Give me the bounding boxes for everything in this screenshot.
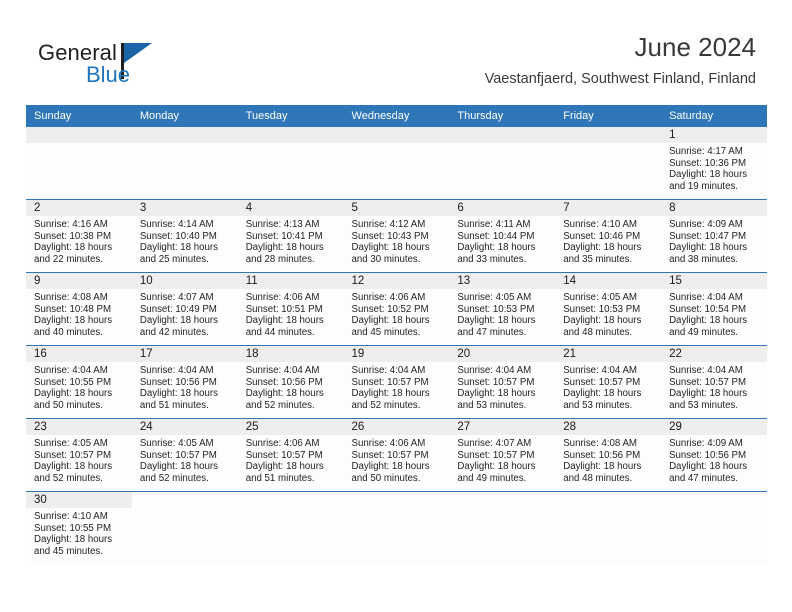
- day-detail-sunset: Sunset: 10:48 PM: [34, 304, 126, 316]
- day-detail-sunrise: Sunrise: 4:12 AM: [352, 219, 444, 231]
- day-number: 4: [238, 200, 344, 216]
- day-details: Sunrise: 4:05 AMSunset: 10:57 PMDaylight…: [26, 435, 132, 484]
- calendar-week-row: 1Sunrise: 4:17 AMSunset: 10:36 PMDayligh…: [26, 127, 767, 200]
- day-detail-daylight-line1: Daylight: 18 hours: [669, 461, 761, 473]
- day-detail-sunset: Sunset: 10:56 PM: [563, 450, 655, 462]
- day-details: Sunrise: 4:04 AMSunset: 10:57 PMDaylight…: [449, 362, 555, 411]
- day-detail-sunset: Sunset: 10:53 PM: [563, 304, 655, 316]
- day-detail-sunset: Sunset: 10:53 PM: [457, 304, 549, 316]
- calendar-day-cell[interactable]: 7Sunrise: 4:10 AMSunset: 10:46 PMDayligh…: [555, 200, 661, 273]
- weekday-header-friday: Friday: [555, 105, 661, 127]
- calendar-page: General Blue June 2024 Vaestanfjaerd, So…: [0, 0, 792, 612]
- day-detail-sunset: Sunset: 10:57 PM: [457, 377, 549, 389]
- title-block: June 2024 Vaestanfjaerd, Southwest Finla…: [485, 31, 756, 88]
- day-detail-sunrise: Sunrise: 4:04 AM: [457, 365, 549, 377]
- day-details: Sunrise: 4:05 AMSunset: 10:53 PMDaylight…: [555, 289, 661, 338]
- day-detail-daylight-line1: Daylight: 18 hours: [563, 388, 655, 400]
- day-detail-sunrise: Sunrise: 4:05 AM: [140, 438, 232, 450]
- day-detail-daylight-line2: and 25 minutes.: [140, 254, 232, 266]
- day-detail-daylight-line2: and 42 minutes.: [140, 327, 232, 339]
- calendar-cell-empty: [344, 492, 450, 565]
- day-detail-sunset: Sunset: 10:43 PM: [352, 231, 444, 243]
- day-number: 5: [344, 200, 450, 216]
- calendar-day-cell[interactable]: 27Sunrise: 4:07 AMSunset: 10:57 PMDaylig…: [449, 419, 555, 492]
- day-detail-sunrise: Sunrise: 4:14 AM: [140, 219, 232, 231]
- day-detail-daylight-line1: Daylight: 18 hours: [669, 169, 761, 181]
- day-details: Sunrise: 4:12 AMSunset: 10:43 PMDaylight…: [344, 216, 450, 265]
- day-number: 28: [555, 419, 661, 435]
- day-number: 30: [26, 492, 132, 508]
- day-details: Sunrise: 4:11 AMSunset: 10:44 PMDaylight…: [449, 216, 555, 265]
- calendar-header-row: SundayMondayTuesdayWednesdayThursdayFrid…: [26, 105, 767, 127]
- calendar-cell-empty: [555, 492, 661, 565]
- day-detail-daylight-line1: Daylight: 18 hours: [246, 315, 338, 327]
- day-detail-sunrise: Sunrise: 4:04 AM: [352, 365, 444, 377]
- day-details: Sunrise: 4:10 AMSunset: 10:46 PMDaylight…: [555, 216, 661, 265]
- day-number: 21: [555, 346, 661, 362]
- day-number: 16: [26, 346, 132, 362]
- calendar-day-cell[interactable]: 30Sunrise: 4:10 AMSunset: 10:55 PMDaylig…: [26, 492, 132, 565]
- day-detail-sunrise: Sunrise: 4:10 AM: [563, 219, 655, 231]
- weekday-header-row: SundayMondayTuesdayWednesdayThursdayFrid…: [26, 105, 767, 127]
- day-detail-sunrise: Sunrise: 4:06 AM: [246, 292, 338, 304]
- day-detail-daylight-line2: and 30 minutes.: [352, 254, 444, 266]
- day-details: Sunrise: 4:09 AMSunset: 10:56 PMDaylight…: [661, 435, 767, 484]
- day-detail-daylight-line1: Daylight: 18 hours: [140, 242, 232, 254]
- day-number: 3: [132, 200, 238, 216]
- day-number: 15: [661, 273, 767, 289]
- calendar-day-cell[interactable]: 26Sunrise: 4:06 AMSunset: 10:57 PMDaylig…: [344, 419, 450, 492]
- day-details: Sunrise: 4:04 AMSunset: 10:57 PMDaylight…: [555, 362, 661, 411]
- day-number: 19: [344, 346, 450, 362]
- calendar-day-cell[interactable]: 14Sunrise: 4:05 AMSunset: 10:53 PMDaylig…: [555, 273, 661, 346]
- day-detail-daylight-line1: Daylight: 18 hours: [457, 315, 549, 327]
- day-detail-sunset: Sunset: 10:46 PM: [563, 231, 655, 243]
- day-number: 12: [344, 273, 450, 289]
- calendar-day-cell[interactable]: 24Sunrise: 4:05 AMSunset: 10:57 PMDaylig…: [132, 419, 238, 492]
- day-number: 25: [238, 419, 344, 435]
- day-number: 11: [238, 273, 344, 289]
- day-detail-daylight-line1: Daylight: 18 hours: [34, 461, 126, 473]
- day-detail-daylight-line1: Daylight: 18 hours: [563, 242, 655, 254]
- general-blue-logo[interactable]: General Blue: [38, 40, 218, 92]
- day-number: 10: [132, 273, 238, 289]
- day-number: 29: [661, 419, 767, 435]
- day-detail-sunrise: Sunrise: 4:04 AM: [563, 365, 655, 377]
- calendar-cell-empty: [132, 492, 238, 565]
- blue-triangle-flag-icon: [124, 43, 152, 63]
- day-detail-daylight-line1: Daylight: 18 hours: [563, 315, 655, 327]
- day-details: Sunrise: 4:04 AMSunset: 10:54 PMDaylight…: [661, 289, 767, 338]
- day-details: Sunrise: 4:04 AMSunset: 10:56 PMDaylight…: [132, 362, 238, 411]
- day-detail-sunrise: Sunrise: 4:04 AM: [140, 365, 232, 377]
- day-detail-sunset: Sunset: 10:57 PM: [352, 377, 444, 389]
- day-detail-sunset: Sunset: 10:40 PM: [140, 231, 232, 243]
- day-detail-daylight-line2: and 45 minutes.: [34, 546, 126, 558]
- day-detail-daylight-line1: Daylight: 18 hours: [563, 461, 655, 473]
- calendar-cell-blank: [26, 127, 132, 200]
- day-details: Sunrise: 4:07 AMSunset: 10:57 PMDaylight…: [449, 435, 555, 484]
- day-detail-daylight-line2: and 33 minutes.: [457, 254, 549, 266]
- day-detail-sunrise: Sunrise: 4:09 AM: [669, 438, 761, 450]
- day-detail-sunrise: Sunrise: 4:08 AM: [34, 292, 126, 304]
- calendar-day-cell[interactable]: 16Sunrise: 4:04 AMSunset: 10:55 PMDaylig…: [26, 346, 132, 419]
- day-detail-daylight-line2: and 50 minutes.: [34, 400, 126, 412]
- day-detail-daylight-line2: and 52 minutes.: [246, 400, 338, 412]
- day-detail-daylight-line2: and 50 minutes.: [352, 473, 444, 485]
- calendar-cell-empty: [449, 492, 555, 565]
- calendar-day-cell[interactable]: 4Sunrise: 4:13 AMSunset: 10:41 PMDayligh…: [238, 200, 344, 273]
- day-detail-daylight-line1: Daylight: 18 hours: [669, 315, 761, 327]
- day-detail-daylight-line2: and 53 minutes.: [563, 400, 655, 412]
- day-detail-daylight-line2: and 49 minutes.: [669, 327, 761, 339]
- day-detail-daylight-line2: and 22 minutes.: [34, 254, 126, 266]
- page-title: June 2024: [485, 31, 756, 63]
- logo-text-blue: Blue: [86, 62, 130, 88]
- day-detail-sunrise: Sunrise: 4:17 AM: [669, 146, 761, 158]
- day-details: Sunrise: 4:06 AMSunset: 10:52 PMDaylight…: [344, 289, 450, 338]
- day-number: 26: [344, 419, 450, 435]
- day-detail-sunrise: Sunrise: 4:08 AM: [563, 438, 655, 450]
- day-details: Sunrise: 4:13 AMSunset: 10:41 PMDaylight…: [238, 216, 344, 265]
- day-detail-daylight-line2: and 49 minutes.: [457, 473, 549, 485]
- calendar-week-row: 2Sunrise: 4:16 AMSunset: 10:38 PMDayligh…: [26, 200, 767, 273]
- day-detail-sunset: Sunset: 10:52 PM: [352, 304, 444, 316]
- day-detail-sunrise: Sunrise: 4:04 AM: [34, 365, 126, 377]
- calendar-day-cell[interactable]: 8Sunrise: 4:09 AMSunset: 10:47 PMDayligh…: [661, 200, 767, 273]
- day-detail-sunset: Sunset: 10:57 PM: [246, 450, 338, 462]
- day-detail-sunrise: Sunrise: 4:06 AM: [352, 292, 444, 304]
- day-detail-sunrise: Sunrise: 4:13 AM: [246, 219, 338, 231]
- day-detail-daylight-line1: Daylight: 18 hours: [140, 315, 232, 327]
- calendar-day-cell[interactable]: 1Sunrise: 4:17 AMSunset: 10:36 PMDayligh…: [661, 127, 767, 200]
- calendar-cell-blank: [344, 127, 450, 200]
- day-number: 17: [132, 346, 238, 362]
- day-detail-daylight-line2: and 45 minutes.: [352, 327, 444, 339]
- day-number: 7: [555, 200, 661, 216]
- day-details: Sunrise: 4:06 AMSunset: 10:57 PMDaylight…: [238, 435, 344, 484]
- day-detail-daylight-line1: Daylight: 18 hours: [352, 461, 444, 473]
- day-detail-daylight-line1: Daylight: 18 hours: [457, 242, 549, 254]
- day-details: Sunrise: 4:16 AMSunset: 10:38 PMDaylight…: [26, 216, 132, 265]
- day-detail-daylight-line2: and 52 minutes.: [140, 473, 232, 485]
- day-detail-daylight-line2: and 19 minutes.: [669, 181, 761, 193]
- day-detail-sunset: Sunset: 10:56 PM: [246, 377, 338, 389]
- day-detail-sunrise: Sunrise: 4:07 AM: [457, 438, 549, 450]
- day-detail-daylight-line1: Daylight: 18 hours: [140, 461, 232, 473]
- day-detail-sunrise: Sunrise: 4:09 AM: [669, 219, 761, 231]
- day-detail-sunrise: Sunrise: 4:05 AM: [563, 292, 655, 304]
- day-detail-daylight-line2: and 38 minutes.: [669, 254, 761, 266]
- day-number-band: [132, 127, 238, 143]
- day-detail-daylight-line1: Daylight: 18 hours: [246, 461, 338, 473]
- day-detail-sunset: Sunset: 10:47 PM: [669, 231, 761, 243]
- day-number: 9: [26, 273, 132, 289]
- calendar-day-cell[interactable]: 19Sunrise: 4:04 AMSunset: 10:57 PMDaylig…: [344, 346, 450, 419]
- calendar-day-cell[interactable]: 13Sunrise: 4:05 AMSunset: 10:53 PMDaylig…: [449, 273, 555, 346]
- day-number: 6: [449, 200, 555, 216]
- day-number: 24: [132, 419, 238, 435]
- day-number: 22: [661, 346, 767, 362]
- calendar-day-cell[interactable]: 23Sunrise: 4:05 AMSunset: 10:57 PMDaylig…: [26, 419, 132, 492]
- weekday-header-monday: Monday: [132, 105, 238, 127]
- day-details: Sunrise: 4:06 AMSunset: 10:51 PMDaylight…: [238, 289, 344, 338]
- day-detail-daylight-line1: Daylight: 18 hours: [457, 461, 549, 473]
- calendar-day-cell[interactable]: 25Sunrise: 4:06 AMSunset: 10:57 PMDaylig…: [238, 419, 344, 492]
- day-number: 2: [26, 200, 132, 216]
- day-detail-sunrise: Sunrise: 4:05 AM: [457, 292, 549, 304]
- day-details: Sunrise: 4:08 AMSunset: 10:48 PMDaylight…: [26, 289, 132, 338]
- day-number: 14: [555, 273, 661, 289]
- day-detail-daylight-line1: Daylight: 18 hours: [352, 315, 444, 327]
- day-detail-sunset: Sunset: 10:41 PM: [246, 231, 338, 243]
- day-detail-sunset: Sunset: 10:36 PM: [669, 158, 761, 170]
- day-details: Sunrise: 4:04 AMSunset: 10:57 PMDaylight…: [344, 362, 450, 411]
- calendar-day-cell[interactable]: 6Sunrise: 4:11 AMSunset: 10:44 PMDayligh…: [449, 200, 555, 273]
- day-detail-sunrise: Sunrise: 4:04 AM: [669, 292, 761, 304]
- day-number-band: [238, 127, 344, 143]
- day-detail-daylight-line1: Daylight: 18 hours: [352, 388, 444, 400]
- day-detail-sunset: Sunset: 10:57 PM: [563, 377, 655, 389]
- day-detail-sunset: Sunset: 10:57 PM: [352, 450, 444, 462]
- day-detail-sunset: Sunset: 10:38 PM: [34, 231, 126, 243]
- day-detail-sunset: Sunset: 10:57 PM: [457, 450, 549, 462]
- day-detail-daylight-line1: Daylight: 18 hours: [246, 242, 338, 254]
- day-detail-sunset: Sunset: 10:57 PM: [34, 450, 126, 462]
- day-number: 18: [238, 346, 344, 362]
- calendar-day-cell[interactable]: 3Sunrise: 4:14 AMSunset: 10:40 PMDayligh…: [132, 200, 238, 273]
- day-detail-sunset: Sunset: 10:55 PM: [34, 377, 126, 389]
- day-detail-sunset: Sunset: 10:51 PM: [246, 304, 338, 316]
- calendar-week-row: 9Sunrise: 4:08 AMSunset: 10:48 PMDayligh…: [26, 273, 767, 346]
- day-detail-sunrise: Sunrise: 4:06 AM: [352, 438, 444, 450]
- day-detail-sunrise: Sunrise: 4:06 AM: [246, 438, 338, 450]
- calendar-day-cell[interactable]: 9Sunrise: 4:08 AMSunset: 10:48 PMDayligh…: [26, 273, 132, 346]
- day-detail-sunrise: Sunrise: 4:11 AM: [457, 219, 549, 231]
- day-details: Sunrise: 4:17 AMSunset: 10:36 PMDaylight…: [661, 143, 767, 192]
- calendar-cell-blank: [132, 127, 238, 200]
- day-number: 27: [449, 419, 555, 435]
- day-number-band: [344, 127, 450, 143]
- calendar-day-cell[interactable]: 29Sunrise: 4:09 AMSunset: 10:56 PMDaylig…: [661, 419, 767, 492]
- day-detail-daylight-line1: Daylight: 18 hours: [457, 388, 549, 400]
- day-detail-daylight-line1: Daylight: 18 hours: [34, 388, 126, 400]
- calendar-cell-blank: [555, 127, 661, 200]
- day-number-band: [555, 127, 661, 143]
- page-subtitle-location: Vaestanfjaerd, Southwest Finland, Finlan…: [485, 70, 756, 88]
- calendar-day-cell[interactable]: 18Sunrise: 4:04 AMSunset: 10:56 PMDaylig…: [238, 346, 344, 419]
- day-details: Sunrise: 4:05 AMSunset: 10:53 PMDaylight…: [449, 289, 555, 338]
- day-number: 23: [26, 419, 132, 435]
- day-detail-sunrise: Sunrise: 4:16 AM: [34, 219, 126, 231]
- day-details: Sunrise: 4:10 AMSunset: 10:55 PMDaylight…: [26, 508, 132, 557]
- day-detail-daylight-line1: Daylight: 18 hours: [34, 534, 126, 546]
- day-detail-sunrise: Sunrise: 4:04 AM: [669, 365, 761, 377]
- day-number-band: [26, 127, 132, 143]
- day-number: 1: [661, 127, 767, 143]
- calendar-body: 1Sunrise: 4:17 AMSunset: 10:36 PMDayligh…: [26, 127, 767, 564]
- calendar-day-cell[interactable]: 15Sunrise: 4:04 AMSunset: 10:54 PMDaylig…: [661, 273, 767, 346]
- calendar-cell-empty: [661, 492, 767, 565]
- day-details: Sunrise: 4:07 AMSunset: 10:49 PMDaylight…: [132, 289, 238, 338]
- day-number-band: [449, 127, 555, 143]
- day-detail-daylight-line1: Daylight: 18 hours: [669, 388, 761, 400]
- day-detail-sunrise: Sunrise: 4:04 AM: [246, 365, 338, 377]
- weekday-header-saturday: Saturday: [661, 105, 767, 127]
- day-detail-sunset: Sunset: 10:55 PM: [34, 523, 126, 535]
- day-details: Sunrise: 4:09 AMSunset: 10:47 PMDaylight…: [661, 216, 767, 265]
- day-detail-daylight-line2: and 28 minutes.: [246, 254, 338, 266]
- day-detail-daylight-line2: and 48 minutes.: [563, 473, 655, 485]
- calendar-week-row: 23Sunrise: 4:05 AMSunset: 10:57 PMDaylig…: [26, 419, 767, 492]
- calendar-day-cell[interactable]: 22Sunrise: 4:04 AMSunset: 10:57 PMDaylig…: [661, 346, 767, 419]
- day-detail-daylight-line2: and 53 minutes.: [457, 400, 549, 412]
- day-details: Sunrise: 4:06 AMSunset: 10:57 PMDaylight…: [344, 435, 450, 484]
- day-details: Sunrise: 4:04 AMSunset: 10:57 PMDaylight…: [661, 362, 767, 411]
- calendar-week-row: 30Sunrise: 4:10 AMSunset: 10:55 PMDaylig…: [26, 492, 767, 565]
- calendar-day-cell[interactable]: 11Sunrise: 4:06 AMSunset: 10:51 PMDaylig…: [238, 273, 344, 346]
- day-details: Sunrise: 4:14 AMSunset: 10:40 PMDaylight…: [132, 216, 238, 265]
- calendar-cell-blank: [238, 127, 344, 200]
- day-detail-sunset: Sunset: 10:57 PM: [140, 450, 232, 462]
- day-detail-sunset: Sunset: 10:56 PM: [669, 450, 761, 462]
- day-number: 20: [449, 346, 555, 362]
- day-number: 13: [449, 273, 555, 289]
- day-details: Sunrise: 4:04 AMSunset: 10:56 PMDaylight…: [238, 362, 344, 411]
- day-detail-sunrise: Sunrise: 4:05 AM: [34, 438, 126, 450]
- calendar-day-cell[interactable]: 17Sunrise: 4:04 AMSunset: 10:56 PMDaylig…: [132, 346, 238, 419]
- day-detail-daylight-line2: and 47 minutes.: [457, 327, 549, 339]
- calendar-day-cell[interactable]: 5Sunrise: 4:12 AMSunset: 10:43 PMDayligh…: [344, 200, 450, 273]
- weekday-header-sunday: Sunday: [26, 105, 132, 127]
- calendar-day-cell[interactable]: 20Sunrise: 4:04 AMSunset: 10:57 PMDaylig…: [449, 346, 555, 419]
- day-detail-daylight-line1: Daylight: 18 hours: [352, 242, 444, 254]
- day-detail-daylight-line2: and 51 minutes.: [246, 473, 338, 485]
- day-detail-daylight-line1: Daylight: 18 hours: [669, 242, 761, 254]
- day-detail-sunset: Sunset: 10:44 PM: [457, 231, 549, 243]
- day-detail-daylight-line2: and 51 minutes.: [140, 400, 232, 412]
- day-detail-daylight-line2: and 52 minutes.: [34, 473, 126, 485]
- weekday-header-tuesday: Tuesday: [238, 105, 344, 127]
- calendar-day-cell[interactable]: 10Sunrise: 4:07 AMSunset: 10:49 PMDaylig…: [132, 273, 238, 346]
- day-detail-daylight-line2: and 52 minutes.: [352, 400, 444, 412]
- page-header: General Blue June 2024 Vaestanfjaerd, So…: [0, 0, 792, 100]
- day-detail-sunset: Sunset: 10:56 PM: [140, 377, 232, 389]
- day-detail-daylight-line2: and 47 minutes.: [669, 473, 761, 485]
- weekday-header-thursday: Thursday: [449, 105, 555, 127]
- day-detail-daylight-line2: and 35 minutes.: [563, 254, 655, 266]
- day-detail-sunset: Sunset: 10:54 PM: [669, 304, 761, 316]
- day-detail-daylight-line2: and 40 minutes.: [34, 327, 126, 339]
- day-detail-daylight-line2: and 44 minutes.: [246, 327, 338, 339]
- day-detail-daylight-line2: and 48 minutes.: [563, 327, 655, 339]
- day-detail-daylight-line1: Daylight: 18 hours: [34, 315, 126, 327]
- calendar-cell-blank: [449, 127, 555, 200]
- day-details: Sunrise: 4:05 AMSunset: 10:57 PMDaylight…: [132, 435, 238, 484]
- day-detail-daylight-line1: Daylight: 18 hours: [34, 242, 126, 254]
- day-detail-daylight-line1: Daylight: 18 hours: [140, 388, 232, 400]
- calendar-day-cell[interactable]: 28Sunrise: 4:08 AMSunset: 10:56 PMDaylig…: [555, 419, 661, 492]
- day-number: 8: [661, 200, 767, 216]
- calendar-week-row: 16Sunrise: 4:04 AMSunset: 10:55 PMDaylig…: [26, 346, 767, 419]
- calendar-day-cell[interactable]: 21Sunrise: 4:04 AMSunset: 10:57 PMDaylig…: [555, 346, 661, 419]
- calendar-cell-empty: [238, 492, 344, 565]
- day-detail-daylight-line2: and 53 minutes.: [669, 400, 761, 412]
- calendar-day-cell[interactable]: 12Sunrise: 4:06 AMSunset: 10:52 PMDaylig…: [344, 273, 450, 346]
- weekday-header-wednesday: Wednesday: [344, 105, 450, 127]
- sunrise-sunset-calendar-table: SundayMondayTuesdayWednesdayThursdayFrid…: [26, 105, 767, 564]
- day-detail-sunrise: Sunrise: 4:07 AM: [140, 292, 232, 304]
- day-detail-daylight-line1: Daylight: 18 hours: [246, 388, 338, 400]
- day-detail-sunset: Sunset: 10:49 PM: [140, 304, 232, 316]
- day-detail-sunset: Sunset: 10:57 PM: [669, 377, 761, 389]
- day-details: Sunrise: 4:08 AMSunset: 10:56 PMDaylight…: [555, 435, 661, 484]
- day-details: Sunrise: 4:04 AMSunset: 10:55 PMDaylight…: [26, 362, 132, 411]
- day-detail-sunrise: Sunrise: 4:10 AM: [34, 511, 126, 523]
- calendar-day-cell[interactable]: 2Sunrise: 4:16 AMSunset: 10:38 PMDayligh…: [26, 200, 132, 273]
